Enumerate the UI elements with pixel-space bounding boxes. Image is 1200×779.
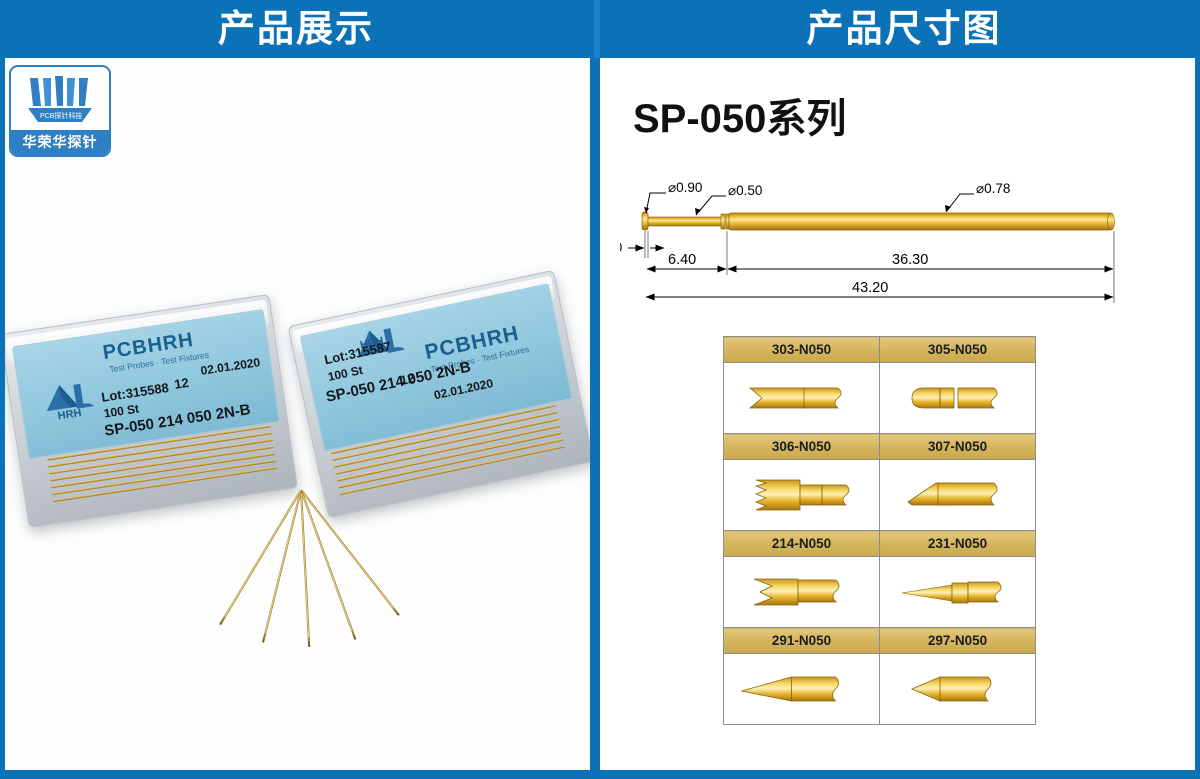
tip-code-305: 305-N050: [880, 337, 1036, 363]
tip-code-307: 307-N050: [880, 434, 1036, 460]
tip-image-307: [880, 460, 1036, 531]
product-photo: PCBHRH Test Probes · Test Fixtures HRH L…: [5, 58, 590, 770]
product-photo-panel: PCBHRH Test Probes · Test Fixtures HRH L…: [5, 58, 590, 770]
label-qty-code: 12: [173, 375, 190, 392]
tip-image-303: [724, 363, 880, 434]
dim-barrel-diameter: ⌀0.78: [976, 181, 1010, 196]
logo-mark-text: PCB探针科技: [40, 111, 82, 120]
table-row: 303-N050 305-N050: [724, 337, 1036, 363]
header-title-left: 产品展示: [0, 2, 592, 56]
hrh-mark-icon: HRH: [37, 374, 101, 424]
tip-image-305: [880, 363, 1036, 434]
product-spec-page: 产品展示 产品尺寸图: [0, 0, 1200, 779]
tip-code-231: 231-N050: [880, 531, 1036, 557]
short-spear-icon: [898, 671, 1018, 707]
crown-serrated-icon: [742, 476, 862, 514]
probe-box-2: PCBHRH Test Probes · Test Fixtures HRH L…: [288, 270, 590, 518]
loose-probe: [223, 489, 302, 619]
hrh-logo: HRH: [37, 374, 101, 424]
dim-head-length: 0.50: [620, 240, 622, 255]
loose-probes-group: [300, 490, 301, 491]
tip-image-231: [880, 557, 1036, 628]
double-fork-icon: [742, 574, 862, 610]
bevel-cut-icon: [898, 478, 1018, 512]
concave-chisel-icon: [742, 381, 862, 415]
tip-code-297: 297-N050: [880, 628, 1036, 654]
round-dome-icon: [898, 381, 1018, 415]
dim-head-diameter: ⌀0.90: [668, 180, 702, 195]
table-row: [724, 460, 1036, 531]
table-row: [724, 363, 1036, 434]
tip-image-291: [724, 654, 880, 725]
tip-code-291: 291-N050: [724, 628, 880, 654]
tip-code-303: 303-N050: [724, 337, 880, 363]
loose-probe: [264, 490, 302, 636]
header-divider: [594, 0, 600, 58]
table-row: [724, 654, 1036, 725]
header-title-right: 产品尺寸图: [608, 2, 1200, 56]
table-row: [724, 557, 1036, 628]
dimension-drawing-panel: SP-050系列: [600, 58, 1195, 770]
tip-code-306: 306-N050: [724, 434, 880, 460]
probe-box-1: PCBHRH Test Probes · Test Fixtures HRH L…: [5, 294, 298, 528]
tip-image-306: [724, 460, 880, 531]
dim-barrel-length: 36.30: [892, 252, 928, 268]
brand-logo: PCB探针科技 华荣华探针: [9, 65, 111, 157]
header-bar: 产品展示 产品尺寸图: [0, 0, 1200, 58]
table-row: 306-N050 307-N050: [724, 434, 1036, 460]
crown-probe-icon: PCB探针科技: [24, 72, 96, 128]
dim-plunger-length: 6.40: [668, 252, 696, 268]
tip-image-214: [724, 557, 880, 628]
table-row: 214-N050 231-N050: [724, 531, 1036, 557]
series-title: SP-050系列: [633, 86, 846, 144]
tip-code-214: 214-N050: [724, 531, 880, 557]
long-spear-icon: [739, 671, 864, 707]
tip-image-297: [880, 654, 1036, 725]
dim-plunger-diameter: ⌀0.50: [728, 183, 762, 198]
probe-dimension-drawing: ⌀0.90 ⌀0.50 ⌀0.78 0.50 6.40: [620, 163, 1175, 363]
dim-total-length: 43.20: [852, 280, 888, 296]
fine-needle-icon: [898, 576, 1018, 608]
tip-style-table: 303-N050 305-N050: [723, 336, 1036, 725]
svg-text:HRH: HRH: [57, 407, 82, 422]
table-row: 291-N050 297-N050: [724, 628, 1036, 654]
brand-logo-name: 华荣华探针: [11, 130, 109, 155]
